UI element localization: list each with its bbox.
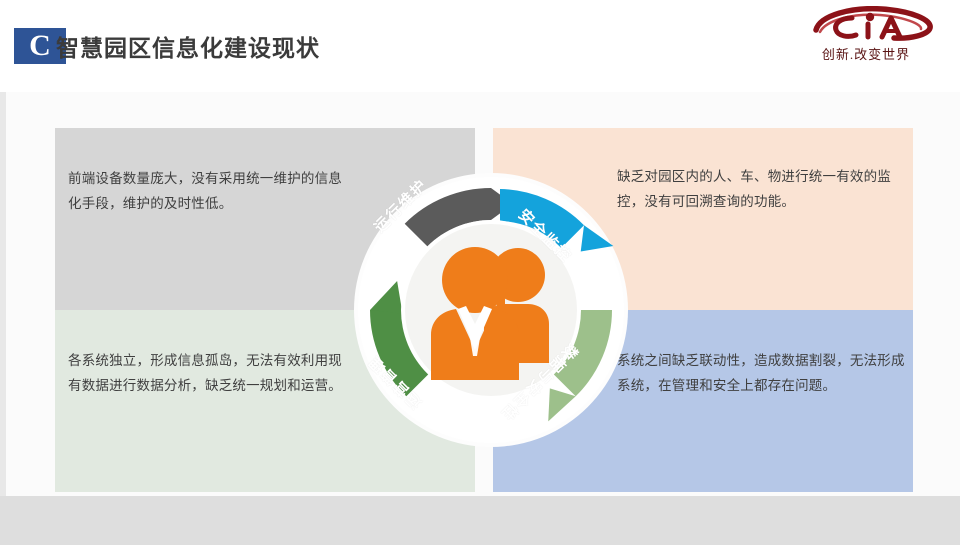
cycle-diagram: 运行维护 安全监控 数据与安全性 运营管理 (353, 172, 629, 448)
logo-tagline: 创新.改变世界 (790, 44, 942, 63)
slide-header: C 智慧园区信息化建设现状 创新.改变世界 (0, 0, 960, 92)
page-title: 智慧园区信息化建设现状 (56, 29, 320, 63)
panel-operation-management-text: 各系统独立，形成信息孤岛，无法有效利用现有数据进行数据分析，缺乏统一规划和运营。 (68, 348, 353, 398)
panel-data-security-text: 系统之间缺乏联动性，造成数据割裂，无法形成系统，在管理和安全上都存在问题。 (617, 348, 912, 398)
brand-logo: 创新.改变世界 (790, 6, 942, 68)
cia-swoosh-logo-icon (790, 6, 942, 46)
footer-band (0, 496, 960, 545)
slide-canvas: C 智慧园区信息化建设现状 创新.改变世界 (0, 0, 960, 545)
panel-operation-maintenance-text: 前端设备数量庞大，没有采用统一维护的信息化手段，维护的及时性低。 (68, 166, 353, 216)
people-group-icon (431, 247, 549, 380)
panel-security-monitoring-text: 缺乏对园区内的人、车、物进行统一有效的监控，没有可回溯查询的功能。 (617, 164, 907, 214)
